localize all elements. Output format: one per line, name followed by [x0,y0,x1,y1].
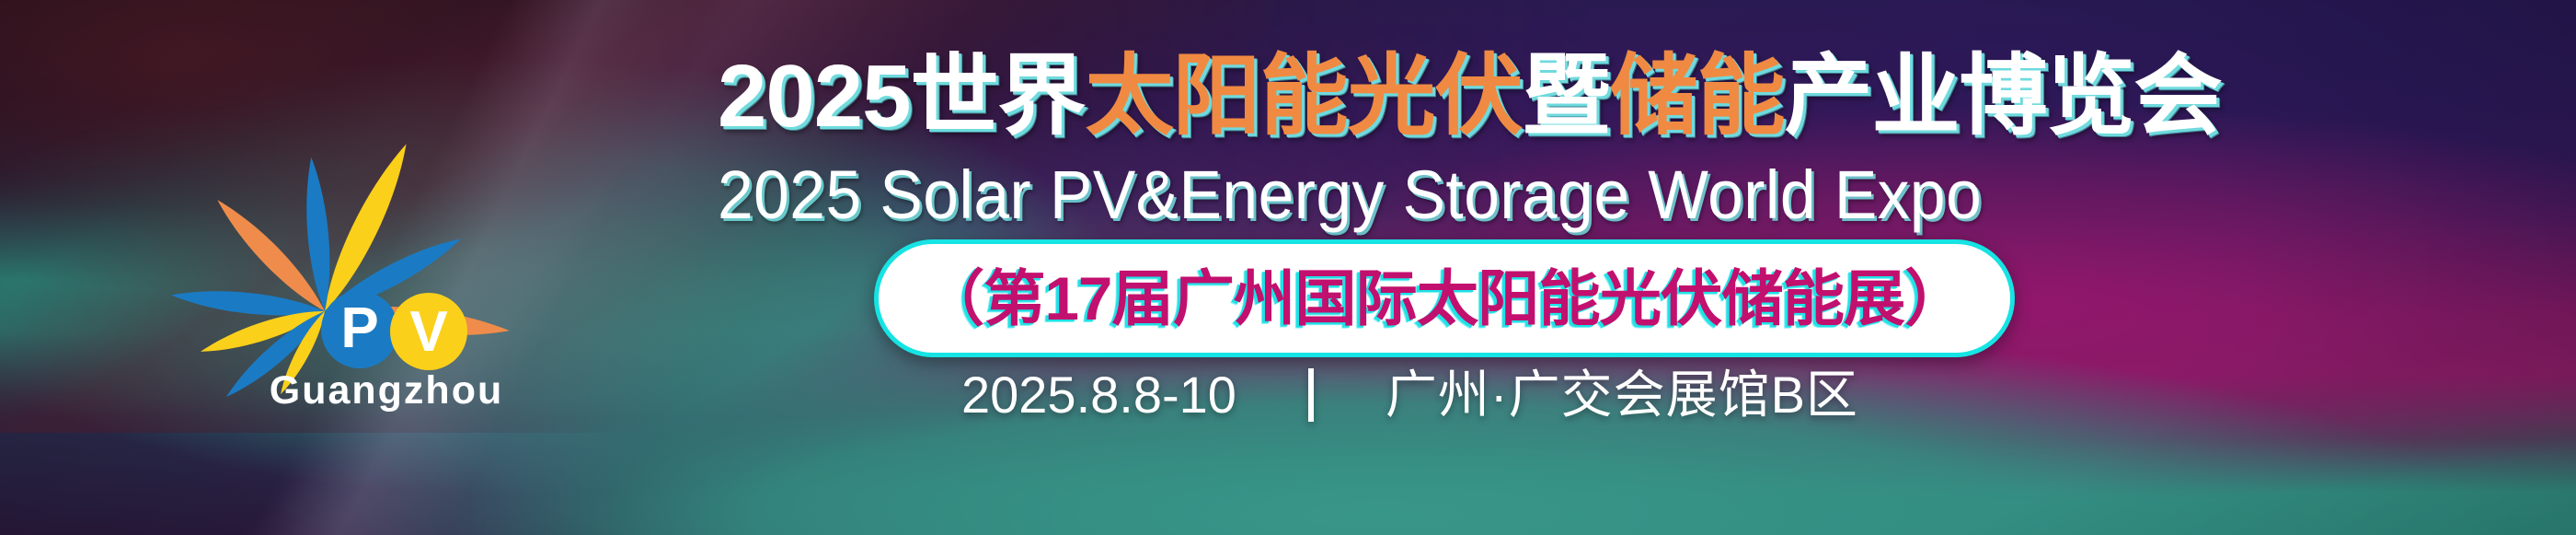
edition-badge-label: （第17届广州国际太阳能光伏储能展） [923,266,1966,331]
headline-segment-4: 产业博览会 [1785,47,2222,145]
pv-guangzhou-logo: P V Guangzhou [164,35,559,422]
logo-v-letter: V [409,300,447,364]
edition-badge: （第17届广州国际太阳能光伏储能展） [874,239,2015,357]
banner-content: 2025世界太阳能光伏暨储能产业博览会 2025 Solar PV&Energy… [718,0,2447,535]
logo-sunburst [170,139,512,404]
headline: 2025世界太阳能光伏暨储能产业博览会 [718,51,2190,143]
subtitle: 2025 Solar PV&Energy Storage World Expo [718,158,1982,232]
headline-segment-1: 太阳能光伏 [1086,47,1523,145]
event-meta: 2025.8.8-10 广州·广交会展馆B区 [961,366,1858,424]
headline-segment-0: 2025世界 [718,47,1086,145]
event-venue: 广州·广交会展馆B区 [1386,366,1858,424]
logo-p-letter: P [340,297,378,360]
meta-separator [1308,368,1314,422]
event-date: 2025.8.8-10 [961,366,1236,424]
headline-segment-2: 暨 [1523,47,1610,145]
headline-segment-3: 储能 [1610,47,1785,145]
expo-banner: P V Guangzhou 2025世界太阳能光伏暨储能产业博览会 2025 S… [0,0,2576,535]
logo-wordmark: Guangzhou [270,368,503,413]
